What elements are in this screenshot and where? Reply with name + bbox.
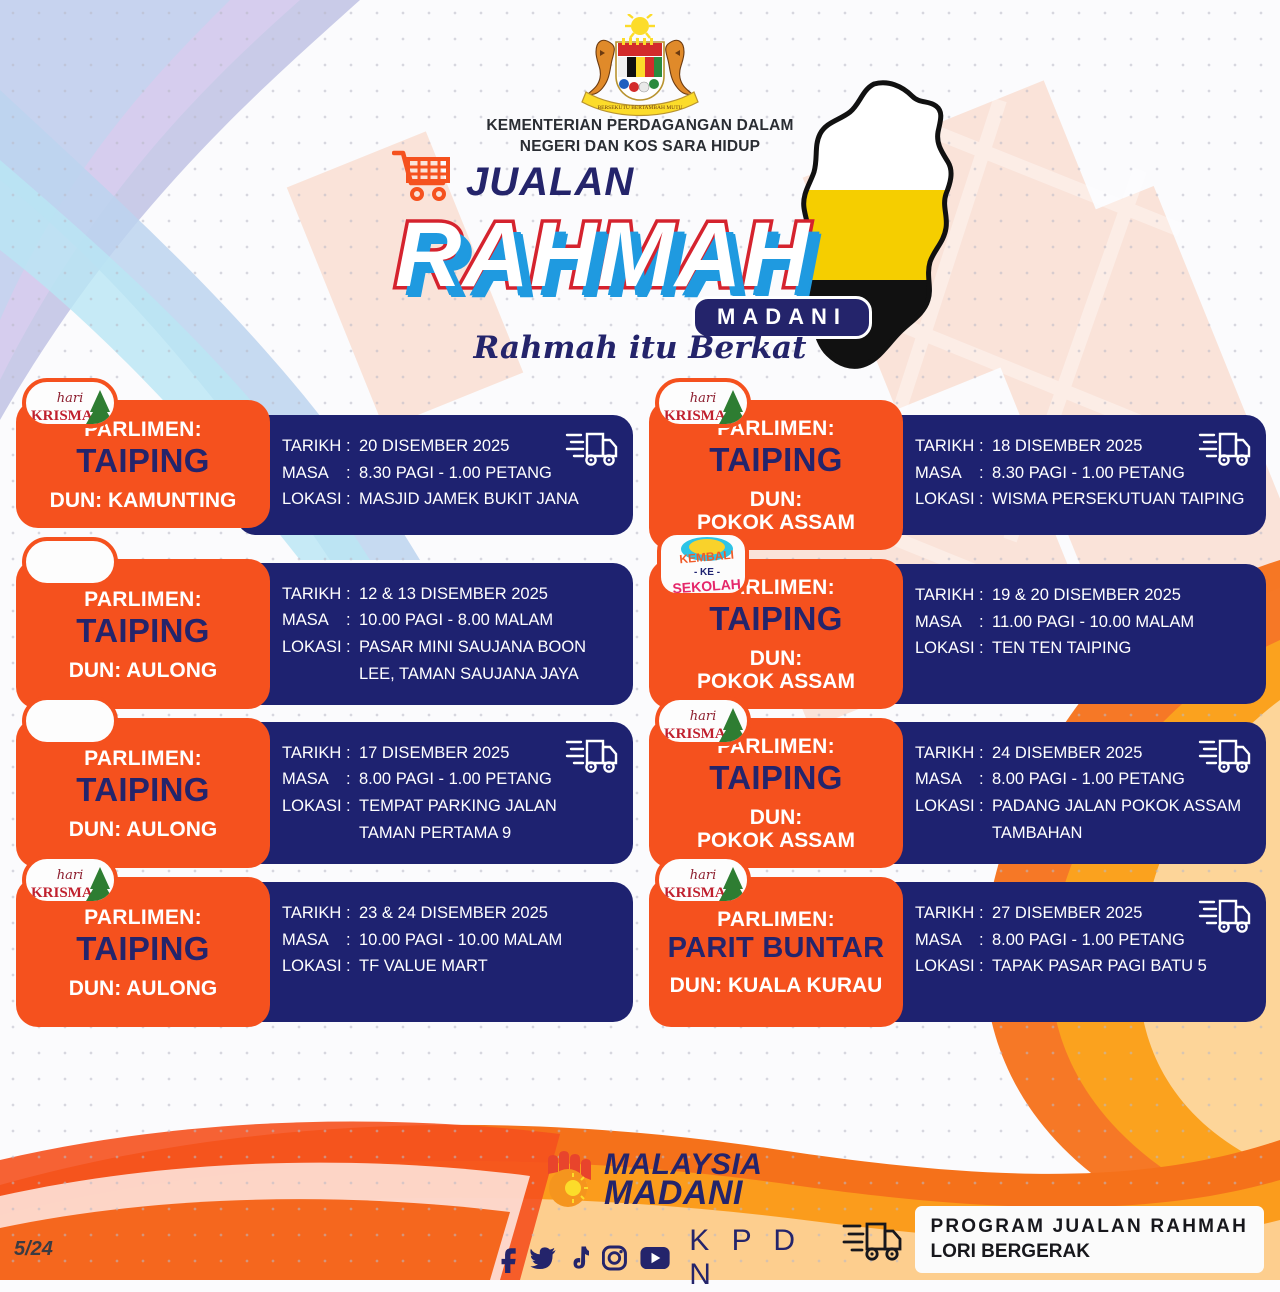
info-tarikh: TARIKH : 19 & 20 DISEMBER 2025 [915, 582, 1252, 609]
masa-label: MASA [915, 460, 979, 487]
colon: : [346, 927, 359, 954]
card-right-panel: TARIKH : 24 DISEMBER 2025 MASA : 8.00 PA… [869, 722, 1266, 865]
event-card[interactable]: KEMBALI - KE - SEKOLAH PARLIMEN: TAIPING… [649, 559, 1266, 709]
lokasi-label: LOKASI [915, 793, 979, 846]
colon: : [979, 766, 992, 793]
facebook-icon[interactable] [498, 1243, 517, 1273]
tarikh-label: TARIKH [915, 740, 979, 767]
delivery-truck-icon [1198, 894, 1252, 936]
masa-value: 8.00 PAGI - 1.00 PETANG [992, 927, 1185, 954]
event-card[interactable]: hari KRISMAS PARLIMEN: PARIT BUNTAR DUN:… [649, 877, 1266, 1027]
colon: : [346, 953, 359, 980]
svg-text:hari: hari [690, 391, 717, 406]
card-left-panel: hari KRISMAS PARLIMEN: TAIPING DUN: KAMU… [16, 400, 270, 528]
colon: : [979, 793, 992, 846]
lokasi-label: LOKASI [282, 486, 346, 513]
info-lokasi: LOKASI : TF VALUE MART [282, 953, 619, 980]
tarikh-label: TARIKH [915, 433, 979, 460]
info-lokasi: LOKASI : TEN TEN TAIPING [915, 635, 1252, 662]
colon: : [346, 793, 359, 846]
event-card[interactable]: hari KRISMAS PARLIMEN: TAIPING DUN: AULO… [16, 877, 633, 1027]
lori-label-box: PROGRAM JUALAN RAHMAH LORI BERGERAK [915, 1206, 1264, 1273]
parlimen-name: TAIPING [709, 601, 843, 637]
event-card[interactable]: hari KRISMAS PARLIMEN: TAIPING DUN: POKO… [649, 718, 1266, 868]
tarikh-value: 23 & 24 DISEMBER 2025 [359, 900, 548, 927]
card-right-panel: TARIKH : 17 DISEMBER 2025 MASA : 8.00 PA… [236, 722, 633, 865]
youtube-icon[interactable] [640, 1245, 670, 1271]
event-card[interactable]: hari KRISMAS PARLIMEN: TAIPING DUN: KAMU… [16, 400, 633, 550]
svg-text:BERSEKUTU BERTAMBAH MUTU: BERSEKUTU BERTAMBAH MUTU [597, 105, 682, 111]
twitter-icon[interactable] [530, 1244, 557, 1272]
info-lokasi: LOKASI : PASAR MINI SAUJANA BOON LEE, TA… [282, 634, 619, 687]
dun-name: DUN: POKOK ASSAM [697, 488, 855, 535]
delivery-truck-icon [565, 734, 619, 776]
lokasi-label: LOKASI [282, 634, 346, 687]
card-row: PARLIMEN: TAIPING DUN: AULONG TARIKH [16, 718, 1266, 868]
tarikh-label: TARIKH [282, 740, 346, 767]
lokasi-value: TEMPAT PARKING JALAN TAMAN PERTAMA 9 [359, 793, 557, 846]
card-right-panel: TARIKH : 23 & 24 DISEMBER 2025 MASA : 10… [236, 882, 633, 1022]
masa-value: 8.30 PAGI - 1.00 PETANG [359, 460, 552, 487]
parlimen-label: PARLIMEN: [84, 747, 202, 771]
parlimen-name: PARIT BUNTAR [668, 933, 885, 964]
tiktok-icon[interactable] [570, 1244, 589, 1272]
event-card[interactable]: PARLIMEN: TAIPING DUN: AULONG TARIKH [16, 718, 633, 868]
lokasi-value: MASJID JAMEK BUKIT JANA [359, 486, 579, 513]
info-masa: MASA : 10.00 PAGI - 10.00 MALAM [282, 927, 619, 954]
dun-name: DUN: POKOK ASSAM [697, 806, 855, 853]
tarikh-value: 17 DISEMBER 2025 [359, 740, 509, 767]
info-lokasi: LOKASI : WISMA PERSEKUTUAN TAIPING [915, 486, 1252, 513]
card-left-panel: PARLIMEN: TAIPING DUN: AULONG [16, 559, 270, 709]
delivery-truck-icon [841, 1216, 903, 1264]
hari-krismas-badge: hari KRISMAS [22, 378, 118, 428]
rahmah-text: RAHMAH [395, 205, 895, 305]
lokasi-value: PADANG JALAN POKOK ASSAM TAMBAHAN [992, 793, 1241, 846]
colon: : [346, 607, 359, 634]
tarikh-value: 20 DISEMBER 2025 [359, 433, 509, 460]
dun-name: DUN: AULONG [69, 818, 218, 842]
hari-krismas-badge: hari KRISMAS [655, 696, 751, 746]
tarikh-value: 19 & 20 DISEMBER 2025 [992, 582, 1181, 609]
hari-krismas-badge: hari KRISMAS [655, 855, 751, 905]
parlimen-label: PARLIMEN: [717, 908, 835, 932]
svg-text:SEKOLAH: SEKOLAH [672, 576, 741, 597]
parlimen-label: PARLIMEN: [84, 588, 202, 612]
dun-name: DUN: AULONG [69, 659, 218, 683]
masa-value: 8.30 PAGI - 1.00 PETANG [992, 460, 1185, 487]
malaysian-coat-of-arms-icon: BERSEKUTU BERTAMBAH MUTU [560, 14, 720, 118]
instagram-icon[interactable] [602, 1244, 627, 1272]
dun-name: DUN: KAMUNTING [50, 489, 237, 513]
tarikh-label: TARIKH [282, 581, 346, 608]
card-row: hari KRISMAS PARLIMEN: TAIPING DUN: AULO… [16, 877, 1266, 1027]
tarikh-label: TARIKH [915, 900, 979, 927]
kembali-ke-sekolah-badge: KEMBALI - KE - SEKOLAH [657, 531, 749, 597]
card-right-panel: TARIKH : 27 DISEMBER 2025 MASA : 8.00 PA… [869, 882, 1266, 1022]
info-masa: MASA : 10.00 PAGI - 8.00 MALAM [282, 607, 619, 634]
masa-label: MASA [282, 460, 346, 487]
colon: : [979, 927, 992, 954]
info-tarikh: TARIKH : 23 & 24 DISEMBER 2025 [282, 900, 619, 927]
delivery-truck-icon [1198, 427, 1252, 469]
masa-label: MASA [915, 766, 979, 793]
delivery-truck-icon [565, 427, 619, 469]
card-left-panel: hari KRISMAS PARLIMEN: TAIPING DUN: POKO… [649, 718, 903, 868]
masa-label: MASA [915, 927, 979, 954]
malaysia-madani-logo-icon [540, 1150, 596, 1208]
tarikh-label: TARIKH [282, 900, 346, 927]
hari-krismas-badge: hari KRISMAS [22, 855, 118, 905]
social-links: K P D N [498, 1224, 828, 1292]
lokasi-value: WISMA PERSEKUTUAN TAIPING [992, 486, 1244, 513]
info-lokasi: LOKASI : TAPAK PASAR PAGI BATU 5 [915, 953, 1252, 980]
tarikh-value: 12 & 13 DISEMBER 2025 [359, 581, 548, 608]
hari-krismas-badge: hari KRISMAS [655, 378, 751, 428]
parlimen-name: TAIPING [709, 442, 843, 478]
blank-badge [22, 696, 118, 746]
poster-footer: MALAYSIA MADANI K P D N [0, 1128, 1280, 1280]
event-card[interactable]: hari KRISMAS PARLIMEN: TAIPING DUN: POKO… [649, 400, 1266, 550]
info-lokasi: LOKASI : PADANG JALAN POKOK ASSAM TAMBAH… [915, 793, 1252, 846]
tarikh-label: TARIKH [282, 433, 346, 460]
info-lokasi: LOKASI : TEMPAT PARKING JALAN TAMAN PERT… [282, 793, 619, 846]
svg-text:hari: hari [57, 391, 84, 406]
masa-value: 8.00 PAGI - 1.00 PETANG [359, 766, 552, 793]
masa-label: MASA [282, 766, 346, 793]
colon: : [979, 433, 992, 460]
card-row: hari KRISMAS PARLIMEN: TAIPING DUN: KAMU… [16, 400, 1266, 550]
masa-value: 11.00 PAGI - 10.00 MALAM [992, 609, 1194, 636]
colon: : [979, 900, 992, 927]
delivery-truck-icon [1198, 734, 1252, 776]
lokasi-value: TAPAK PASAR PAGI BATU 5 [992, 953, 1207, 980]
colon: : [346, 433, 359, 460]
masa-value: 10.00 PAGI - 10.00 MALAM [359, 927, 562, 954]
lori-line-2: LORI BERGERAK [931, 1239, 1248, 1264]
card-right-panel: TARIKH : 18 DISEMBER 2025 MASA : 8.30 PA… [869, 415, 1266, 535]
parlimen-name: TAIPING [709, 760, 843, 796]
lori-bergerak-badge: PROGRAM JUALAN RAHMAH LORI BERGERAK [841, 1206, 1264, 1273]
tarikh-label: TARIKH [915, 582, 979, 609]
events-grid: hari KRISMAS PARLIMEN: TAIPING DUN: KAMU… [16, 400, 1266, 1036]
jualan-title: JUALAN [466, 160, 634, 205]
parlimen-name: TAIPING [76, 443, 210, 479]
shopping-cart-icon [392, 148, 454, 202]
info-tarikh: TARIKH : 12 & 13 DISEMBER 2025 [282, 581, 619, 608]
card-row: PARLIMEN: TAIPING DUN: AULONG TARIKH : 1… [16, 559, 1266, 709]
masa-label: MASA [282, 607, 346, 634]
lokasi-label: LOKASI [282, 953, 346, 980]
lokasi-label: LOKASI [915, 486, 979, 513]
masa-value: 10.00 PAGI - 8.00 MALAM [359, 607, 553, 634]
tagline: Rahmah itu Berkat [430, 330, 850, 366]
tarikh-value: 24 DISEMBER 2025 [992, 740, 1142, 767]
rahmah-wordmark: RAHMAH [395, 205, 895, 305]
colon: : [979, 486, 992, 513]
card-left-panel: hari KRISMAS PARLIMEN: TAIPING DUN: POKO… [649, 400, 903, 550]
masa-value: 8.00 PAGI - 1.00 PETANG [992, 766, 1185, 793]
lokasi-value: TF VALUE MART [359, 953, 488, 980]
colon: : [346, 634, 359, 687]
parlimen-name: TAIPING [76, 613, 210, 649]
tarikh-value: 18 DISEMBER 2025 [992, 433, 1142, 460]
colon: : [346, 460, 359, 487]
kpdn-text: K P D N [689, 1224, 828, 1292]
tarikh-value: 27 DISEMBER 2025 [992, 900, 1142, 927]
card-left-panel: hari KRISMAS PARLIMEN: PARIT BUNTAR DUN:… [649, 877, 903, 1027]
malaysia-madani-wordmark: MALAYSIA MADANI [604, 1150, 762, 1208]
colon: : [346, 740, 359, 767]
dun-name: DUN: AULONG [69, 977, 218, 1001]
lokasi-label: LOKASI [915, 635, 979, 662]
dun-name: DUN: POKOK ASSAM [697, 647, 855, 694]
svg-text:hari: hari [57, 868, 84, 883]
lokasi-value: TEN TEN TAIPING [992, 635, 1131, 662]
colon: : [346, 581, 359, 608]
parlimen-name: TAIPING [76, 772, 210, 808]
masa-label: MASA [915, 609, 979, 636]
colon: : [346, 766, 359, 793]
lokasi-label: LOKASI [282, 793, 346, 846]
colon: : [346, 486, 359, 513]
blank-badge [22, 537, 118, 587]
info-masa: MASA : 11.00 PAGI - 10.00 MALAM [915, 609, 1252, 636]
event-card[interactable]: PARLIMEN: TAIPING DUN: AULONG TARIKH : 1… [16, 559, 633, 709]
madani-text: MADANI [604, 1179, 762, 1208]
parlimen-label: PARLIMEN: [84, 906, 202, 930]
poster-header: BERSEKUTU BERTAMBAH MUTU KEMENTERIAN PER… [0, 0, 1280, 385]
colon: : [979, 609, 992, 636]
card-right-panel: TARIKH : 20 DISEMBER 2025 MASA : 8.30 PA… [236, 415, 633, 535]
card-right-panel: TARIKH : 19 & 20 DISEMBER 2025 MASA : 11… [869, 564, 1266, 704]
colon: : [979, 582, 992, 609]
card-left-panel: PARLIMEN: TAIPING DUN: AULONG [16, 718, 270, 868]
info-lokasi: LOKASI : MASJID JAMEK BUKIT JANA [282, 486, 619, 513]
colon: : [979, 460, 992, 487]
lokasi-label: LOKASI [915, 953, 979, 980]
colon: : [346, 900, 359, 927]
lori-line-1: PROGRAM JUALAN RAHMAH [931, 1214, 1248, 1239]
svg-text:hari: hari [690, 868, 717, 883]
page-number: 5/24 [14, 1238, 53, 1261]
colon: : [979, 740, 992, 767]
lokasi-value: PASAR MINI SAUJANA BOON LEE, TAMAN SAUJA… [359, 634, 586, 687]
svg-text:hari: hari [690, 709, 717, 724]
card-left-panel: KEMBALI - KE - SEKOLAH PARLIMEN: TAIPING… [649, 559, 903, 709]
parlimen-name: TAIPING [76, 931, 210, 967]
card-right-panel: TARIKH : 12 & 13 DISEMBER 2025 MASA : 10… [236, 563, 633, 706]
colon: : [979, 953, 992, 980]
dun-name: DUN: KUALA KURAU [670, 974, 883, 998]
colon: : [979, 635, 992, 662]
card-left-panel: hari KRISMAS PARLIMEN: TAIPING DUN: AULO… [16, 877, 270, 1027]
masa-label: MASA [282, 927, 346, 954]
